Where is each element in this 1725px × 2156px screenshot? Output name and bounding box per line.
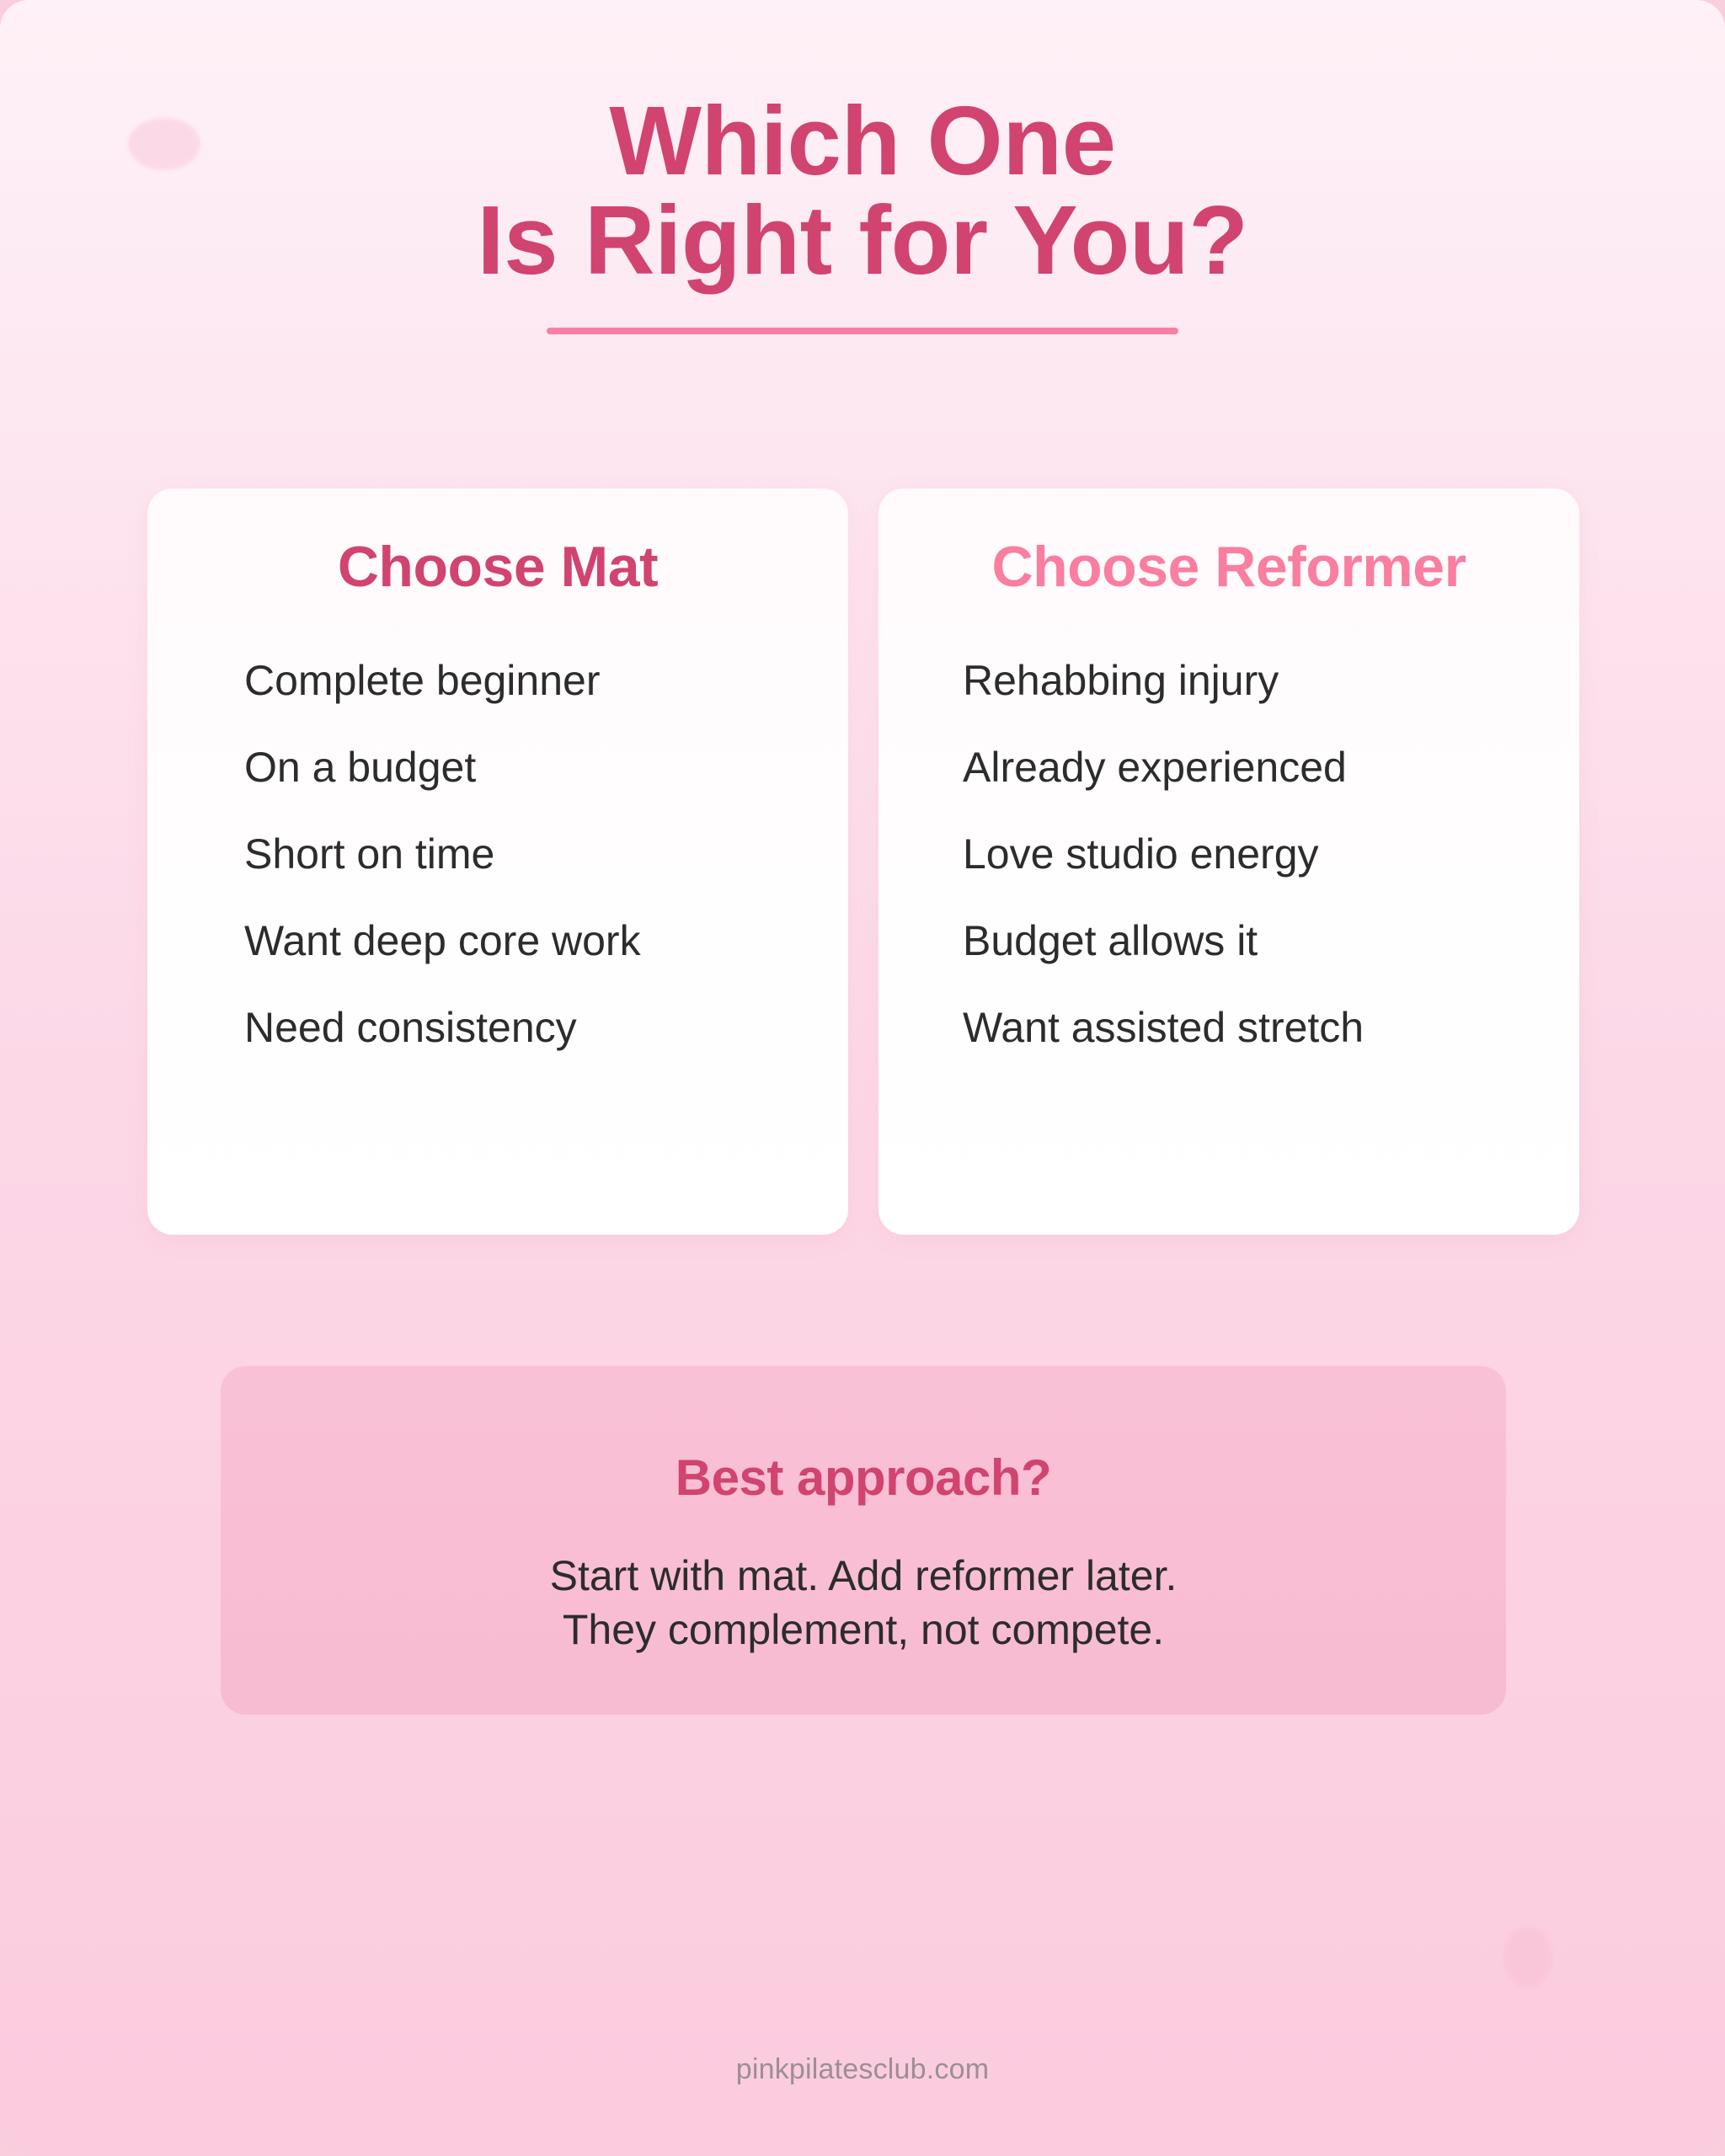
best-approach-line-1: Start with mat. Add reformer later. (221, 1549, 1506, 1603)
list-item: Complete beginner (244, 659, 848, 702)
list-item: Budget allows it (963, 920, 1579, 962)
title-underline-divider (547, 328, 1178, 334)
best-approach-line-2: They complement, not compete. (221, 1603, 1506, 1657)
list-item: Need consistency (244, 1006, 848, 1049)
list-item: Want deep core work (244, 920, 848, 962)
card-choose-reformer-list: Rehabbing injury Already experienced Lov… (879, 659, 1579, 1049)
page-title-line-1: Which One (0, 91, 1725, 190)
best-approach-title: Best approach? (221, 1449, 1506, 1507)
card-choose-mat-list: Complete beginner On a budget Short on t… (147, 659, 848, 1049)
header: Which One Is Right for You? (0, 0, 1725, 334)
list-item: Want assisted stretch (963, 1006, 1579, 1049)
footer-site-url: pinkpilatesclub.com (0, 2053, 1725, 2086)
card-choose-reformer-title: Choose Reformer (879, 537, 1579, 597)
best-approach-panel: Best approach? Start with mat. Add refor… (221, 1366, 1506, 1715)
list-item: Short on time (244, 833, 848, 875)
card-choose-mat-title: Choose Mat (147, 537, 848, 597)
poster-canvas: Which One Is Right for You? Choose Mat C… (0, 0, 1725, 2156)
card-choose-reformer: Choose Reformer Rehabbing injury Already… (879, 488, 1579, 1235)
page-title-line-2: Is Right for You? (0, 190, 1725, 290)
best-approach-body: Start with mat. Add reformer later. They… (221, 1549, 1506, 1657)
card-choose-mat: Choose Mat Complete beginner On a budget… (147, 488, 848, 1235)
page-title: Which One Is Right for You? (0, 91, 1725, 291)
list-item: Love studio energy (963, 833, 1579, 875)
list-item: On a budget (244, 746, 848, 788)
decorative-circle-bottom-right (1503, 1927, 1552, 1988)
list-item: Rehabbing injury (963, 659, 1579, 702)
list-item: Already experienced (963, 746, 1579, 788)
comparison-cards: Choose Mat Complete beginner On a budget… (147, 488, 1579, 1235)
